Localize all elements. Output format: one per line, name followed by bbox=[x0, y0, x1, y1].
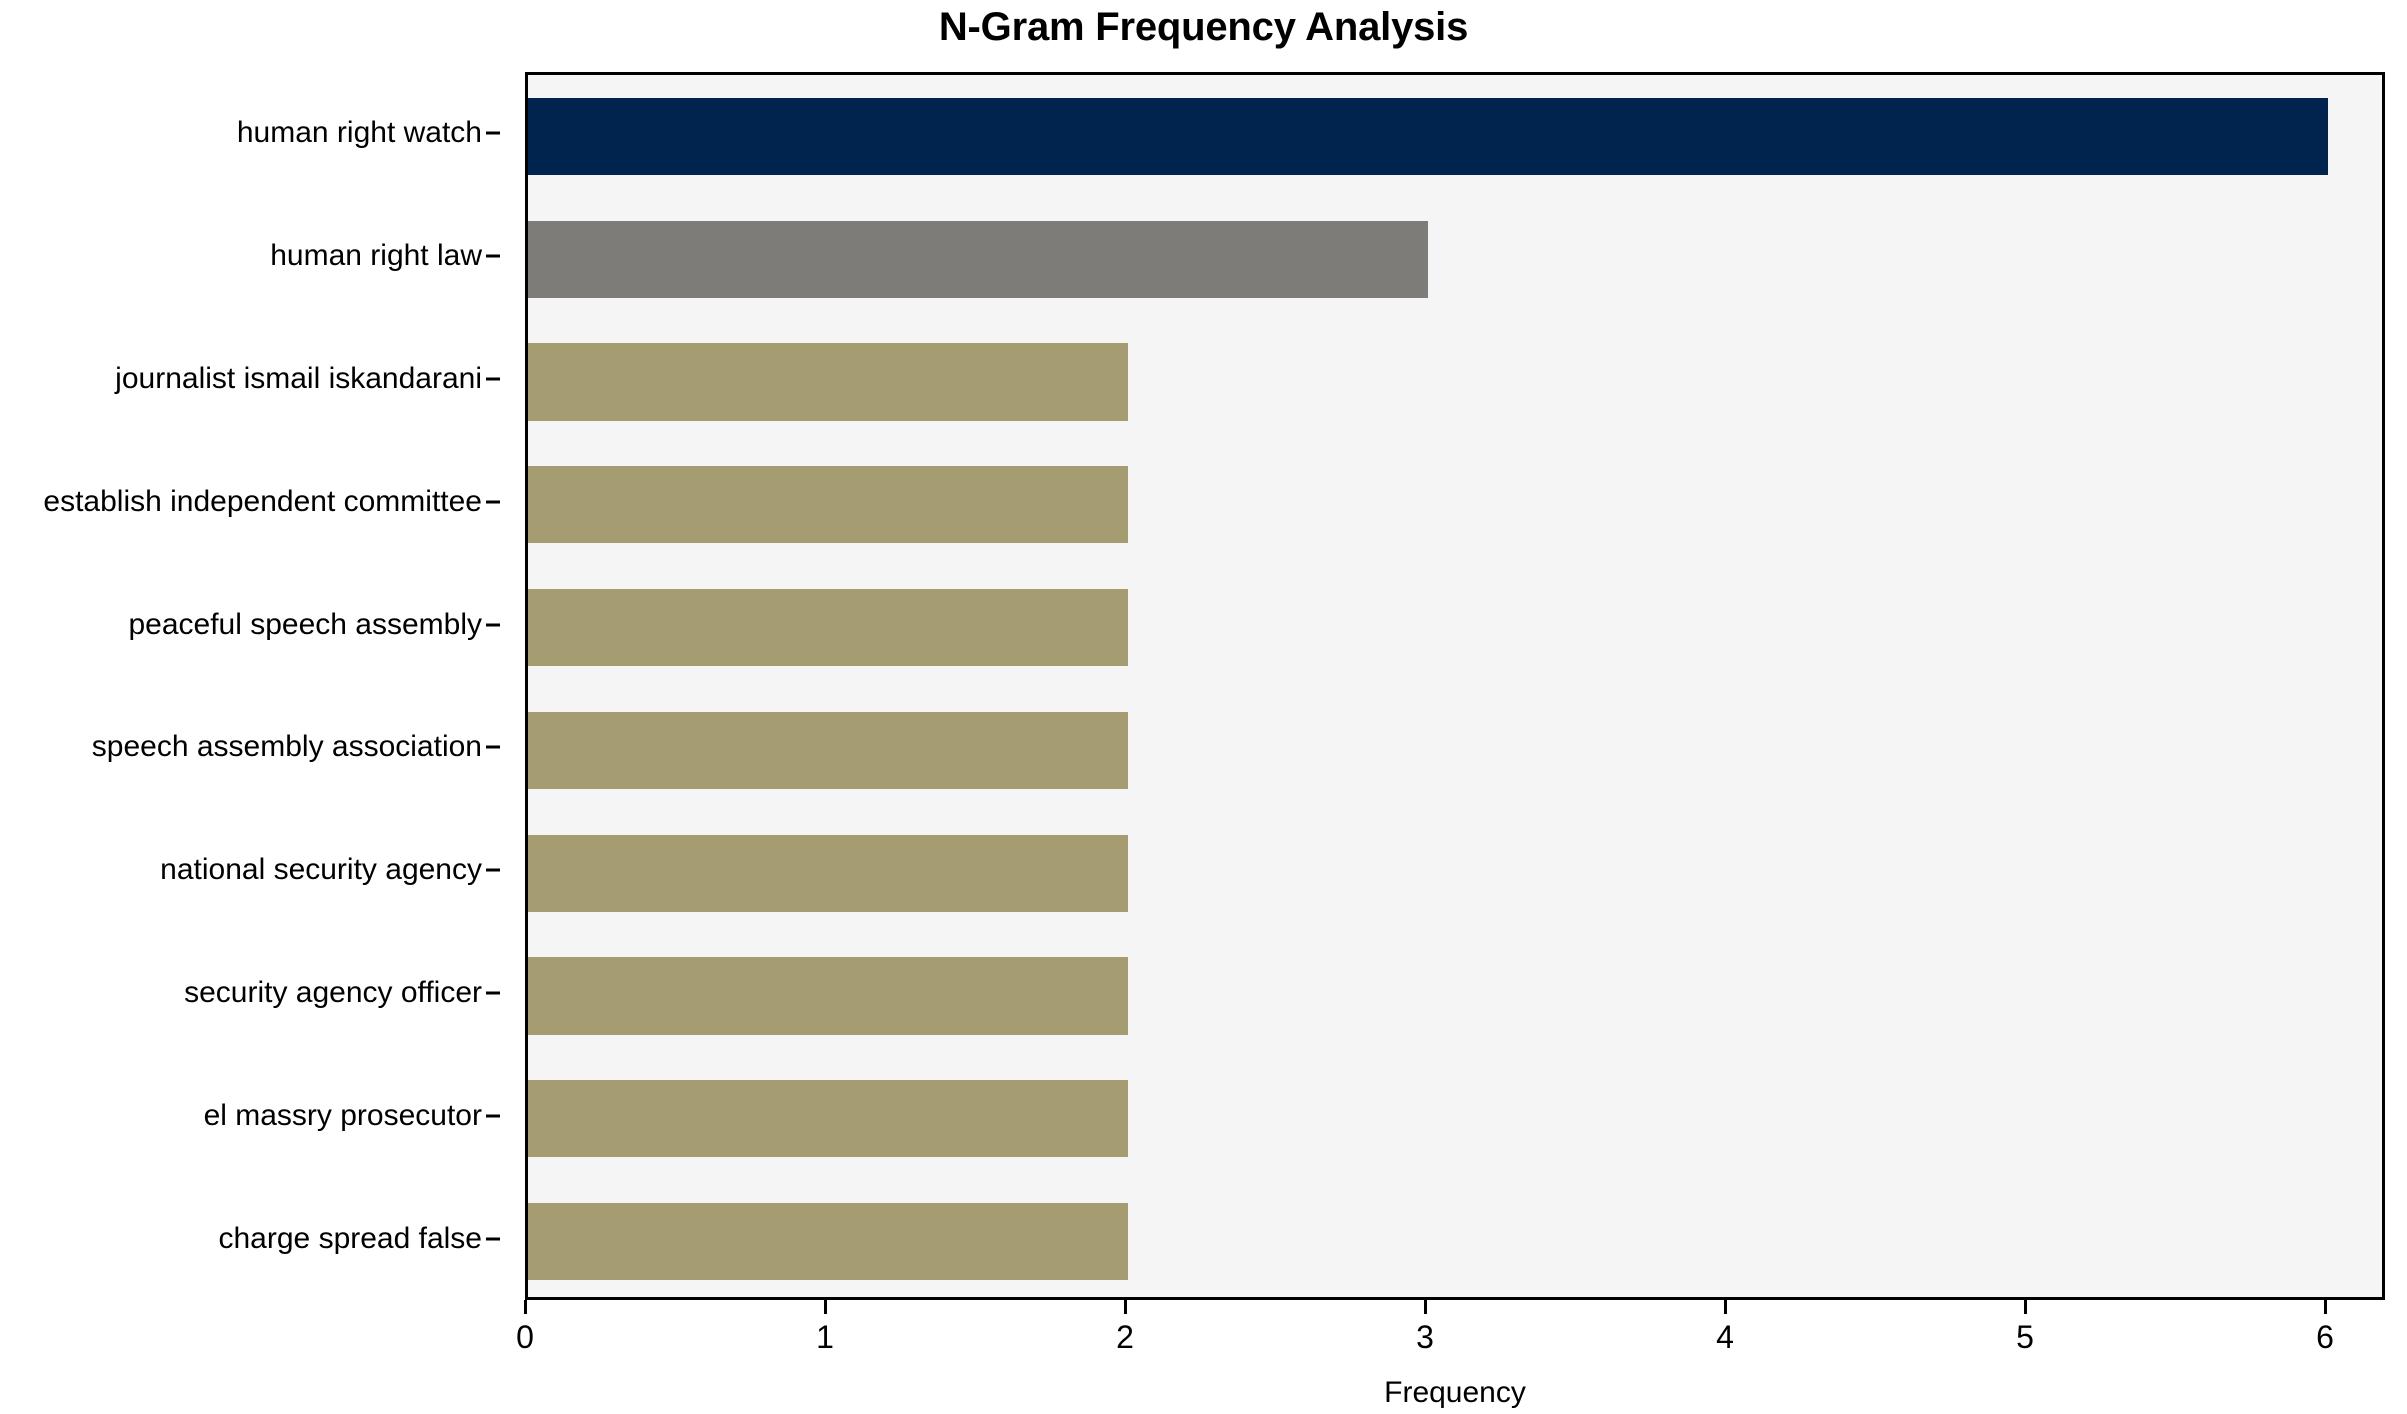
x-tick-mark bbox=[524, 1300, 527, 1314]
y-tick-label: charge spread false bbox=[219, 1224, 483, 1254]
x-axis-title: Frequency bbox=[525, 1376, 2385, 1410]
x-tick-mark bbox=[1424, 1300, 1427, 1314]
x-tick-label: 2 bbox=[1116, 1320, 1134, 1354]
x-tick-label: 6 bbox=[2316, 1320, 2334, 1354]
chart-title: N-Gram Frequency Analysis bbox=[0, 4, 2407, 50]
y-tick-mark bbox=[486, 500, 500, 503]
y-tick-mark bbox=[486, 132, 500, 135]
bars-layer bbox=[528, 75, 2382, 1297]
y-tick-mark bbox=[486, 869, 500, 872]
x-tick-label: 5 bbox=[2016, 1320, 2034, 1354]
y-tick-label: security agency officer bbox=[184, 978, 482, 1008]
y-tick-label: speech assembly association bbox=[92, 732, 482, 762]
bar bbox=[528, 1203, 1128, 1280]
x-tick-mark bbox=[1724, 1300, 1727, 1314]
y-tick-mark bbox=[486, 992, 500, 995]
x-tick-label: 1 bbox=[816, 1320, 834, 1354]
x-tick-label: 0 bbox=[516, 1320, 534, 1354]
bar bbox=[528, 221, 1428, 298]
bar bbox=[528, 98, 2328, 175]
x-tick-mark bbox=[2024, 1300, 2027, 1314]
bar bbox=[528, 712, 1128, 789]
y-tick-mark bbox=[486, 255, 500, 258]
bar bbox=[528, 1080, 1128, 1157]
bar bbox=[528, 957, 1128, 1034]
y-tick-label: human right watch bbox=[237, 118, 482, 148]
y-tick-mark bbox=[486, 378, 500, 381]
y-tick-label: journalist ismail iskandarani bbox=[115, 364, 482, 394]
bar bbox=[528, 835, 1128, 912]
y-tick-label: human right law bbox=[270, 241, 482, 271]
x-tick-label: 3 bbox=[1416, 1320, 1434, 1354]
y-tick-mark bbox=[486, 746, 500, 749]
chart-figure: N-Gram Frequency Analysis human right wa… bbox=[0, 0, 2407, 1414]
y-tick-mark bbox=[486, 1237, 500, 1240]
y-tick-label: el massry prosecutor bbox=[204, 1101, 482, 1131]
bar bbox=[528, 466, 1128, 543]
x-tick-mark bbox=[1124, 1300, 1127, 1314]
plot-area bbox=[525, 72, 2385, 1300]
y-tick-label: establish independent committee bbox=[43, 487, 482, 517]
y-axis: human right watchhuman right lawjournali… bbox=[0, 72, 510, 1300]
bar bbox=[528, 343, 1128, 420]
y-tick-label: national security agency bbox=[160, 855, 482, 885]
x-axis: Frequency 0123456 bbox=[525, 1300, 2385, 1414]
x-tick-label: 4 bbox=[1716, 1320, 1734, 1354]
y-tick-label: peaceful speech assembly bbox=[128, 610, 482, 640]
y-tick-mark bbox=[486, 623, 500, 626]
x-tick-mark bbox=[824, 1300, 827, 1314]
x-tick-mark bbox=[2324, 1300, 2327, 1314]
y-tick-mark bbox=[486, 1114, 500, 1117]
bar bbox=[528, 589, 1128, 666]
